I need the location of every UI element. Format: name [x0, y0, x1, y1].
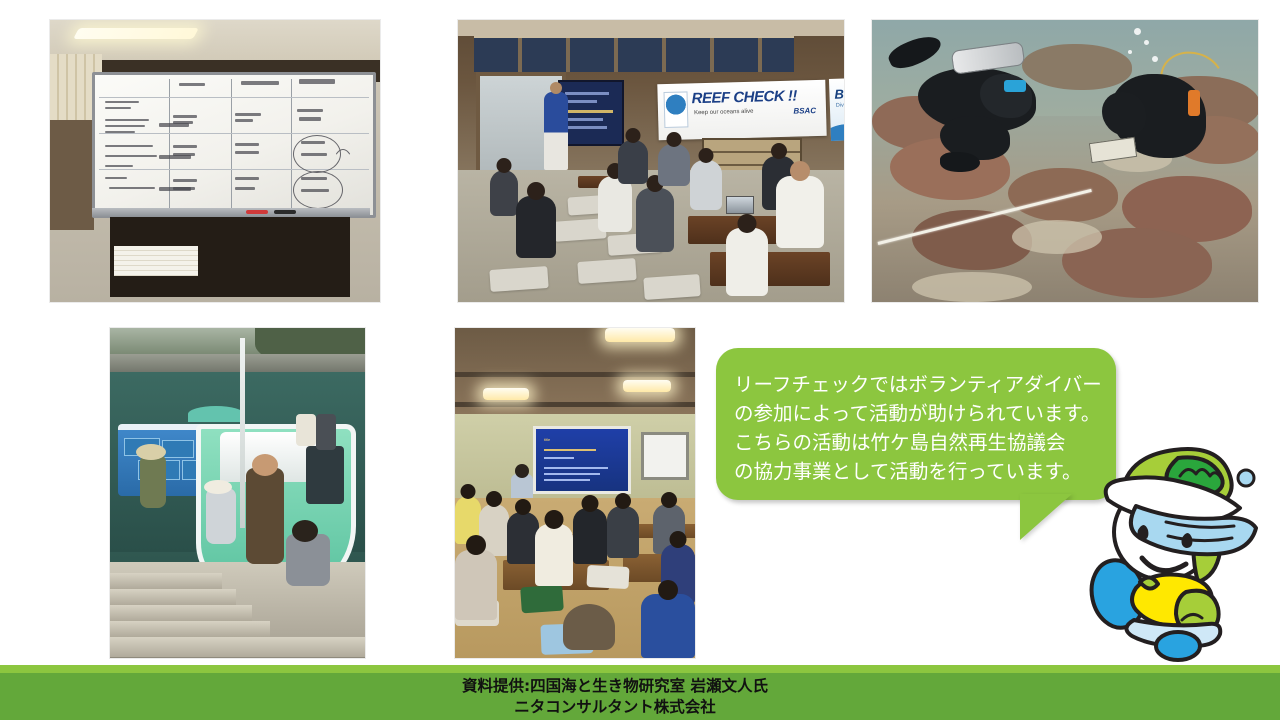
seated-person [535, 524, 573, 586]
framed-photo-row [474, 36, 794, 72]
wave-graphic [830, 117, 844, 141]
photo-underwater-survey [872, 20, 1258, 302]
presenter [544, 92, 568, 170]
diver-right [1090, 52, 1240, 176]
seated-person [641, 594, 695, 658]
projection-screen: title [533, 426, 631, 494]
bsac-banner: BSAC Dive with us [829, 77, 844, 141]
ceiling-lamp [483, 388, 529, 400]
left-shoulder [1140, 577, 1158, 588]
diver-left [888, 34, 1074, 174]
footer-credit: 資料提供:四国海と生き物研究室 岩瀬文人氏 ニタコンサルタント株式会社 [0, 673, 1280, 720]
umi-mascot [1082, 442, 1262, 666]
breakwater [110, 354, 365, 374]
red-marker [246, 210, 268, 214]
laptop [726, 196, 754, 214]
seated-person [690, 160, 722, 210]
bsac-banner-tagline: Dive with us [836, 102, 844, 109]
bubble-dot-icon [1238, 470, 1254, 486]
boat-mast [240, 338, 245, 528]
reef-check-banner-tagline: Keep our oceans alive [694, 109, 754, 117]
seated-person [776, 176, 824, 248]
seated-person [563, 604, 615, 650]
marker-tray [92, 208, 370, 217]
seated-person [490, 170, 518, 216]
reef-check-banner-title: REEF CHECK !! [691, 88, 797, 108]
person-boarding [206, 488, 236, 544]
slide-canvas: REEF CHECK !! Keep our oceans alive BSAC… [0, 0, 1280, 720]
photo-boat-boarding [110, 328, 365, 658]
bsac-banner-title: BSAC [834, 86, 844, 102]
sun-hat [136, 444, 166, 460]
seated-person [516, 196, 556, 258]
person-standing [246, 468, 284, 564]
presenter-head [550, 82, 562, 94]
whiteboard [92, 72, 376, 218]
speaker-head [515, 464, 529, 478]
zabuton [586, 565, 629, 589]
crew-member [316, 414, 336, 450]
dive-gear [306, 446, 344, 504]
reef-check-banner-sponsor: BSAC [793, 106, 816, 116]
boat-awning [188, 406, 244, 422]
seated-person [607, 506, 639, 558]
seated-person [636, 188, 674, 252]
ceiling [458, 20, 844, 36]
tail-fin [1156, 632, 1200, 660]
ceiling-lamp [623, 380, 671, 392]
person-with-hat [140, 454, 166, 508]
footer-accent-stripe [0, 665, 1280, 673]
paper-stack [114, 246, 198, 276]
small-whiteboard [641, 432, 689, 480]
footer-credit-line-2: ニタコンサルタント株式会社 [514, 697, 716, 718]
speech-bubble: リーフチェックではボランティアダイバー の参加によって活動が助けられています。 … [716, 348, 1116, 500]
person-crouching [286, 534, 330, 586]
speech-bubble-tail [1020, 494, 1072, 540]
footer-credit-line-1: 資料提供:四国海と生き物研究室 岩瀬文人氏 [462, 676, 768, 697]
reef-check-logo-icon [664, 91, 689, 128]
reef-check-banner: REEF CHECK !! Keep our oceans alive BSAC [657, 80, 826, 140]
seated-person [618, 140, 648, 184]
speech-bubble-text: リーフチェックではボランティアダイバー の参加によって活動が助けられています。 … [734, 370, 1106, 486]
seated-person [598, 176, 632, 232]
photo-whiteboard-meeting [50, 20, 380, 302]
seated-person [658, 144, 690, 186]
white-hat [204, 480, 232, 494]
photo-tatami-lecture: title [455, 328, 695, 658]
ceiling-lamp [605, 328, 675, 342]
black-marker [274, 210, 296, 214]
zabuton [520, 585, 564, 614]
fluorescent-light [73, 28, 199, 39]
side-cabinet [50, 120, 94, 230]
head [252, 454, 278, 476]
head [292, 520, 318, 542]
photo-reefcheck-briefing: REEF CHECK !! Keep our oceans alive BSAC… [458, 20, 844, 302]
seated-person [726, 228, 768, 296]
seated-person [573, 508, 607, 564]
crew-member [296, 414, 316, 446]
seated-person [455, 550, 497, 620]
